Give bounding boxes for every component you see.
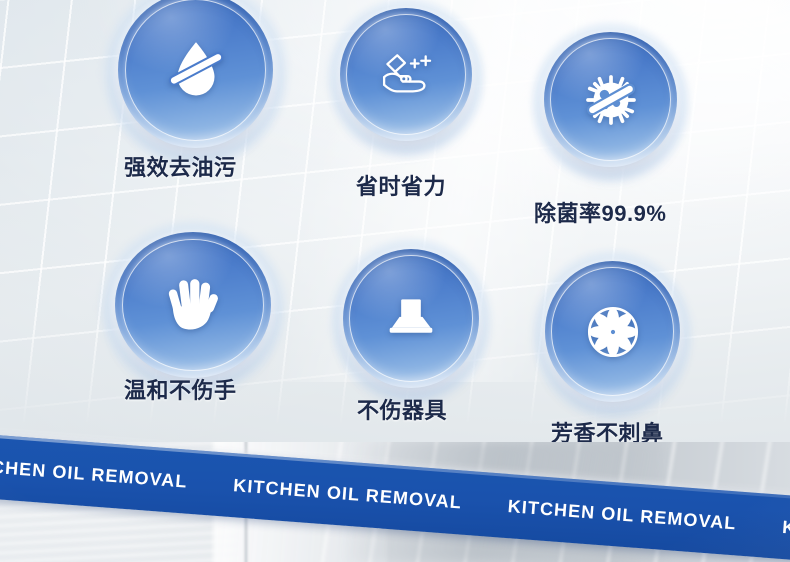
germ-slash-icon <box>544 32 677 167</box>
feature-label-gentle-on-hands: 温和不伤手 <box>124 373 237 405</box>
ribbon-text: KITCHEN OIL REMOVAL <box>232 475 462 513</box>
feature-badge-sterilization[interactable] <box>544 32 677 167</box>
feature-badge-strong-degrease[interactable] <box>118 0 273 148</box>
open-hand-icon <box>115 232 271 378</box>
badge-disc <box>544 32 677 167</box>
badge-disc <box>545 261 680 402</box>
badge-disc <box>118 0 273 148</box>
badge-disc <box>343 249 479 388</box>
feature-badge-mild-fragrance[interactable] <box>545 261 680 402</box>
feature-badge-time-saving[interactable] <box>340 8 472 141</box>
ribbon-text: KITCHEN OIL REMOVAL <box>507 496 737 534</box>
feature-label-time-saving: 省时省力 <box>356 169 446 201</box>
range-hood-icon <box>343 249 479 388</box>
hand-sponge-sparkle-icon <box>340 8 472 141</box>
feature-label-strong-degrease: 强效去油污 <box>124 150 237 182</box>
flower-citrus-icon <box>545 261 680 402</box>
feature-label-sterilization: 除菌率99.9% <box>534 196 666 228</box>
oil-drop-slash-icon <box>118 0 273 148</box>
ribbon-text: KITCHEN OIL REMOVAL <box>781 516 790 554</box>
badge-disc <box>340 8 472 141</box>
badge-disc <box>115 232 271 378</box>
feature-label-safe-on-cookware: 不伤器具 <box>357 393 447 425</box>
promo-banner: 强效去油污 省时省力 <box>0 0 790 562</box>
feature-badge-gentle-on-hands[interactable] <box>115 232 271 378</box>
feature-badge-safe-on-cookware[interactable] <box>343 249 479 388</box>
ribbon-text: KITCHEN OIL REMOVAL <box>0 454 188 492</box>
